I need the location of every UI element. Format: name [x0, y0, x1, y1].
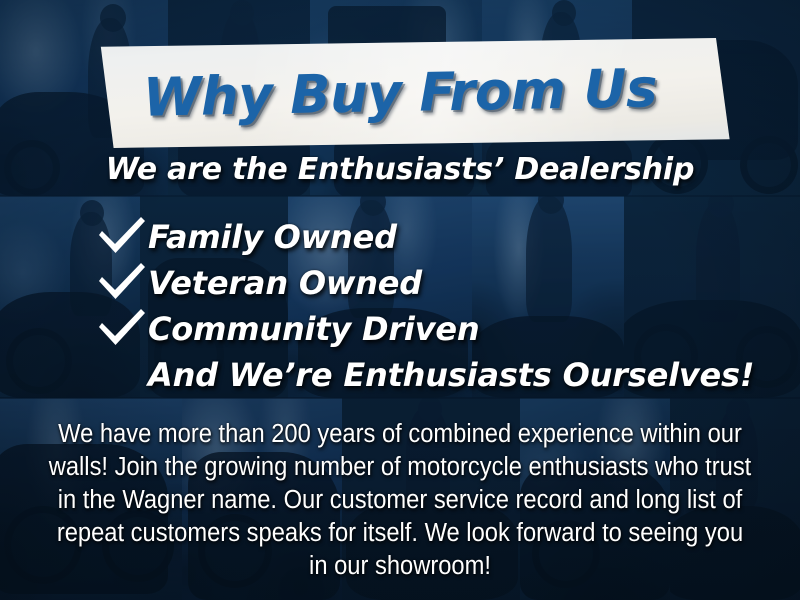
checklist-item: And We’re Enthusiasts Ourselves! [96, 352, 776, 398]
checklist-item-label: And We’re Enthusiasts Ourselves! [148, 356, 754, 394]
checklist-item: Veteran Owned [96, 260, 776, 306]
description-paragraph: We have more than 200 years of combined … [45, 418, 756, 583]
subtitle: We are the Enthusiasts’ Dealership [0, 152, 800, 187]
checklist-item-label: Community Driven [148, 310, 479, 348]
checklist-item-label: Family Owned [148, 218, 397, 256]
checklist-item-label: Veteran Owned [148, 264, 422, 302]
checkmark-icon [96, 215, 148, 259]
benefits-checklist: Family Owned Veteran Owned Community Dri… [96, 214, 776, 398]
why-buy-from-us-banner: Why Buy From Us We are the Enthusiasts’ … [0, 0, 800, 600]
checkmark-icon [96, 307, 148, 351]
headline-container: Why Buy From Us [0, 31, 800, 156]
checklist-item: Family Owned [96, 214, 776, 260]
checklist-item: Community Driven [96, 306, 776, 352]
page-title: Why Buy From Us [142, 58, 657, 128]
checkmark-icon [96, 261, 148, 305]
headline-banner: Why Buy From Us [0, 38, 800, 148]
